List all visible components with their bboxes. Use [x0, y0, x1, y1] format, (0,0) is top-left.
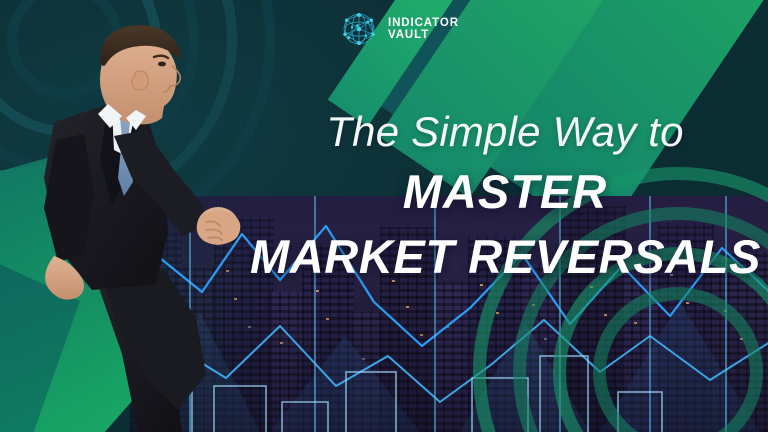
brand-name: INDICATOR VAULT [388, 17, 459, 41]
headline-line-2: MASTER [250, 167, 760, 216]
promo-banner: INDICATOR VAULT The Simple Way to MASTER… [0, 0, 768, 432]
network-node-sphere-icon [338, 8, 380, 50]
headline-block: The Simple Way to MASTER MARKET REVERSAL… [250, 108, 760, 282]
brand-logo[interactable]: INDICATOR VAULT [338, 8, 459, 50]
brand-name-line2: VAULT [388, 29, 459, 41]
brand-name-line1: INDICATOR [388, 17, 459, 29]
businessman-graphic [0, 18, 246, 432]
headline-line-3: MARKET REVERSALS [250, 232, 760, 281]
headline-line-1: The Simple Way to [250, 108, 760, 155]
